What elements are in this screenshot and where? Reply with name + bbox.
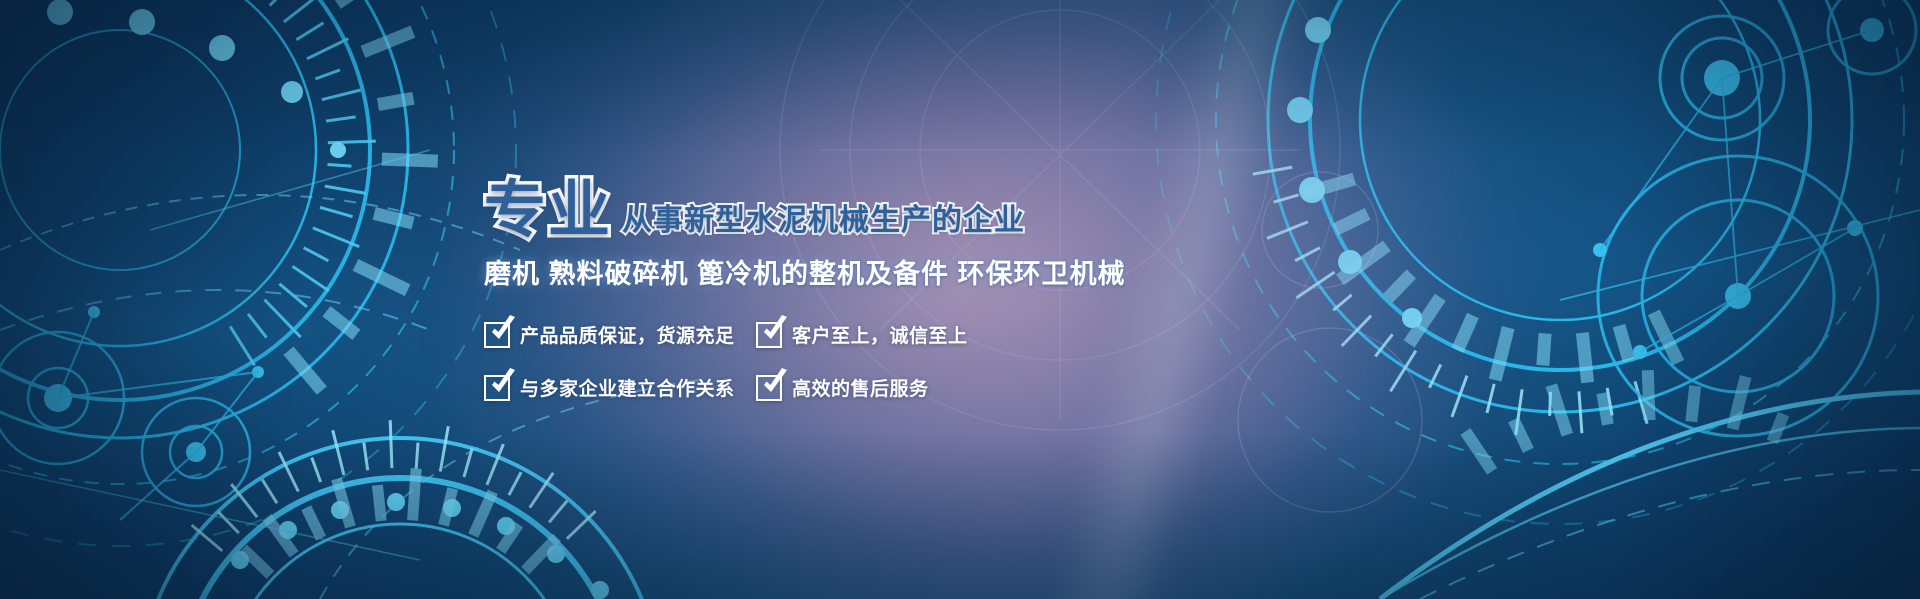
- feature-item: 与多家企业建立合作关系: [484, 374, 742, 401]
- feature-label: 客户至上，诚信至上: [792, 321, 968, 348]
- headline-subtitle: 从事新型水泥机械生产的企业: [622, 206, 1025, 242]
- banner-copy: 专业 从事新型水泥机械生产的企业 磨机 熟料破碎机 篦冷机的整机及备件 环保环卫…: [484, 158, 1184, 401]
- check-icon: [756, 375, 782, 401]
- check-icon: [756, 322, 782, 348]
- headline-kicker: 专业: [484, 180, 612, 242]
- check-icon: [484, 322, 510, 348]
- feature-label: 高效的售后服务: [792, 374, 929, 401]
- headline: 专业 从事新型水泥机械生产的企业: [484, 158, 1184, 242]
- feature-item: 产品品质保证，货源充足: [484, 321, 742, 348]
- feature-label: 与多家企业建立合作关系: [520, 374, 735, 401]
- feature-label: 产品品质保证，货源充足: [520, 321, 735, 348]
- check-icon: [484, 375, 510, 401]
- feature-list: 产品品质保证，货源充足 客户至上，诚信至上: [484, 321, 1184, 401]
- feature-item: 高效的售后服务: [756, 374, 1184, 401]
- promo-banner: 专业 从事新型水泥机械生产的企业 磨机 熟料破碎机 篦冷机的整机及备件 环保环卫…: [0, 0, 1920, 599]
- product-list-line: 磨机 熟料破碎机 篦冷机的整机及备件 环保环卫机械: [484, 252, 1184, 291]
- feature-item: 客户至上，诚信至上: [756, 321, 1184, 348]
